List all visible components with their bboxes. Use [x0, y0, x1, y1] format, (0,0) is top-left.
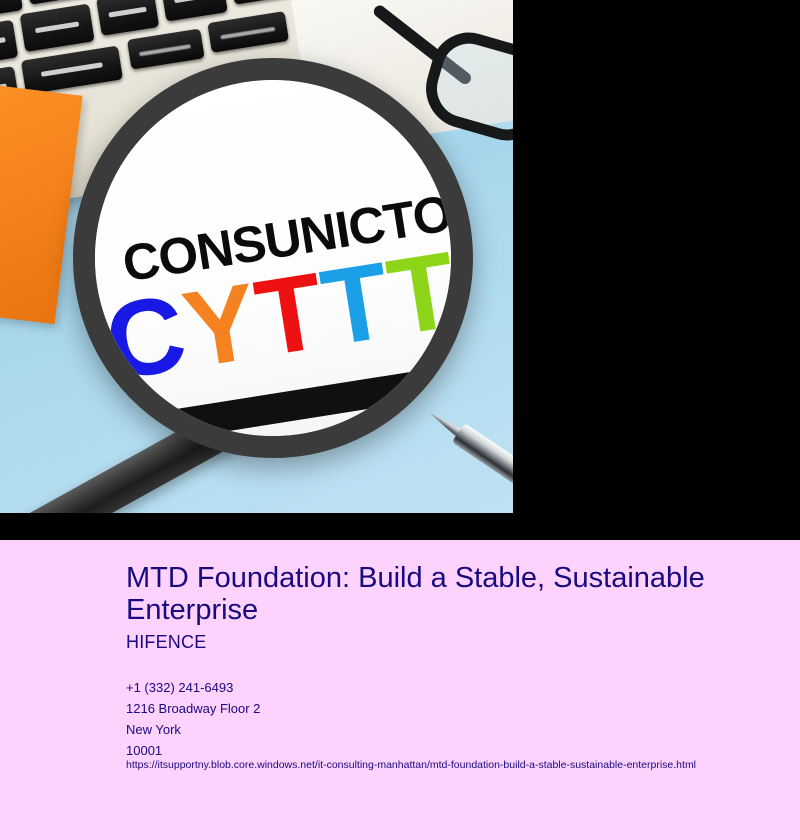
brand-name: HIFENCE: [126, 632, 206, 653]
hero-media-band: CONSUNICTON CYTTT: [0, 0, 800, 540]
contact-phone[interactable]: +1 (332) 241-6493: [126, 677, 260, 698]
contact-street: 1216 Broadway Floor 2: [126, 698, 260, 719]
hero-photo: CONSUNICTON CYTTT: [0, 0, 513, 513]
contact-city: New York: [126, 719, 260, 740]
content-area: MTD Foundation: Build a Stable, Sustaina…: [0, 540, 800, 840]
magnified-paper: CONSUNICTON CYTTT: [95, 80, 451, 436]
magnifier-lens: CONSUNICTON CYTTT: [73, 58, 473, 458]
page-title: MTD Foundation: Build a Stable, Sustaina…: [126, 562, 726, 627]
contact-block: +1 (332) 241-6493 1216 Broadway Floor 2 …: [126, 677, 260, 761]
source-url[interactable]: https://itsupportny.blob.core.windows.ne…: [126, 759, 696, 771]
